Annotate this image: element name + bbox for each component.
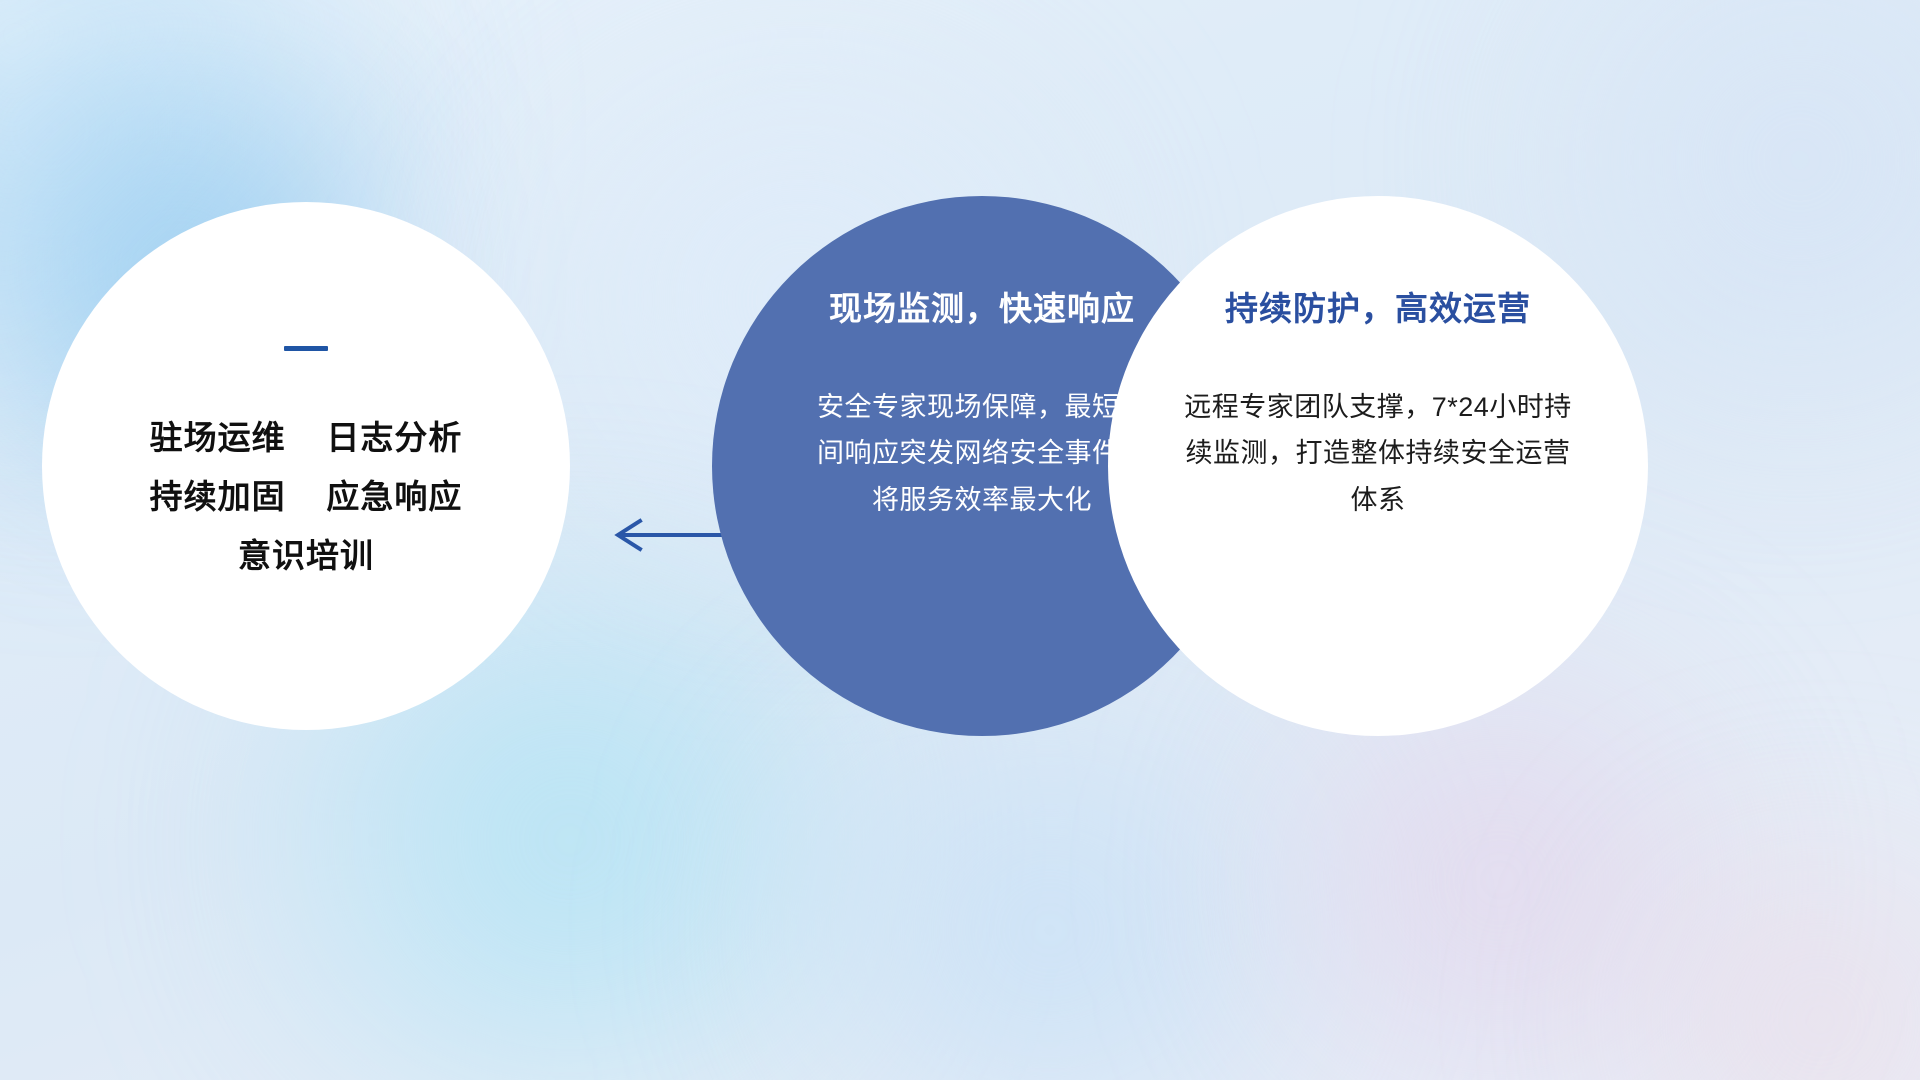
title-rule-divider — [284, 346, 328, 351]
left-circle-service-list: 驻场运维 日志分析 持续加固 应急响应 意识培训 — [150, 409, 463, 585]
middle-circle-body: 安全专家现场保障，最短时间响应突发网络安全事件，将服务效率最大化 — [817, 384, 1147, 523]
list-item: 驻场运维 日志分析 — [150, 409, 463, 468]
right-circle-title: 持续防护，高效运营 — [1225, 282, 1531, 330]
right-circle-card: 持续防护，高效运营 远程专家团队支撑，7*24小时持续监测，打造整体持续安全运营… — [1108, 196, 1648, 736]
list-item: 持续加固 应急响应 — [150, 468, 463, 527]
list-item: 意识培训 — [150, 527, 463, 586]
left-circle-card: 驻场运维 日志分析 持续加固 应急响应 意识培训 — [42, 202, 570, 730]
middle-circle-title: 现场监测，快速响应 — [829, 282, 1135, 330]
right-circle-body: 远程专家团队支撑，7*24小时持续监测，打造整体持续安全运营体系 — [1178, 384, 1578, 523]
